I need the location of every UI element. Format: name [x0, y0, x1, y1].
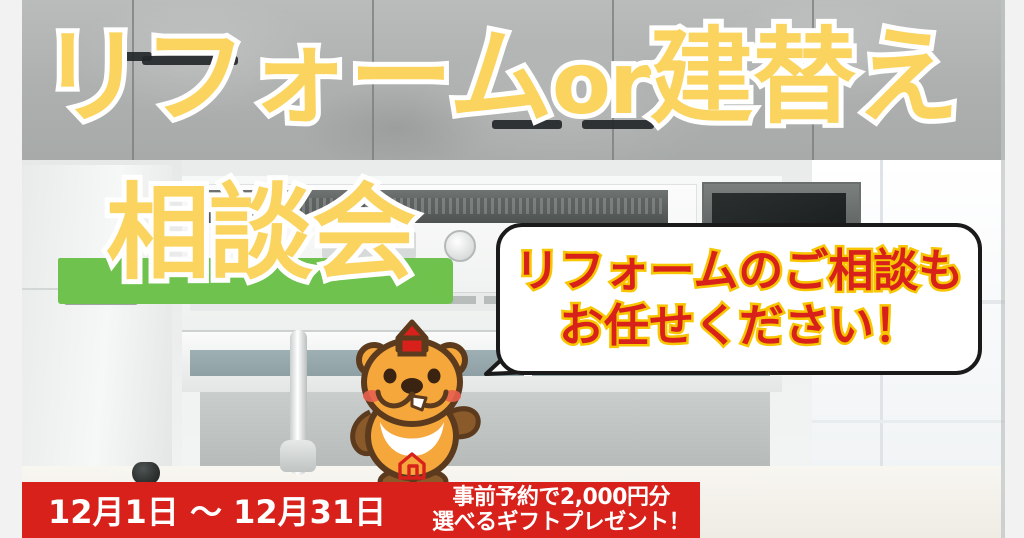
photo-right-edge: [1001, 0, 1005, 538]
headline-latin-or: or: [552, 34, 650, 134]
microwave-knob: [444, 230, 476, 262]
window-sill-lower: [812, 420, 1005, 423]
speech-bubble: リフォームのご相談も お任せください！: [496, 223, 982, 375]
promo-line-1: 事前予約で2,000円分: [432, 485, 690, 510]
headline-tail: 建替え: [649, 16, 958, 138]
reform-mascot-bear-icon: [338, 316, 486, 494]
campaign-date-range: 12月1日 ～ 12月31日: [48, 487, 386, 533]
promo-text-block: 事前予約で2,000円分 選べるギフトプレゼント！: [432, 485, 690, 535]
headline-main: リフォーム: [40, 16, 552, 138]
campaign-period-band: 12月1日 ～ 12月31日 事前予約で2,000円分 選べるギフトプレゼント！: [22, 482, 700, 538]
page-subtitle: 相談会: [106, 178, 415, 288]
promo-line-2: 選べるギフトプレゼント！: [432, 510, 690, 535]
speech-bubble-line-2: お任せください！: [559, 299, 919, 354]
page-title: リフォームor建替え: [40, 22, 958, 132]
speech-bubble-line-1: リフォームのご相談も: [515, 244, 964, 299]
faucet-head: [280, 440, 316, 472]
sink-stopper: [132, 462, 160, 484]
campaign-banner: リフォームor建替え 相談会 リフォームのご相談も お任せください！: [0, 0, 1024, 538]
